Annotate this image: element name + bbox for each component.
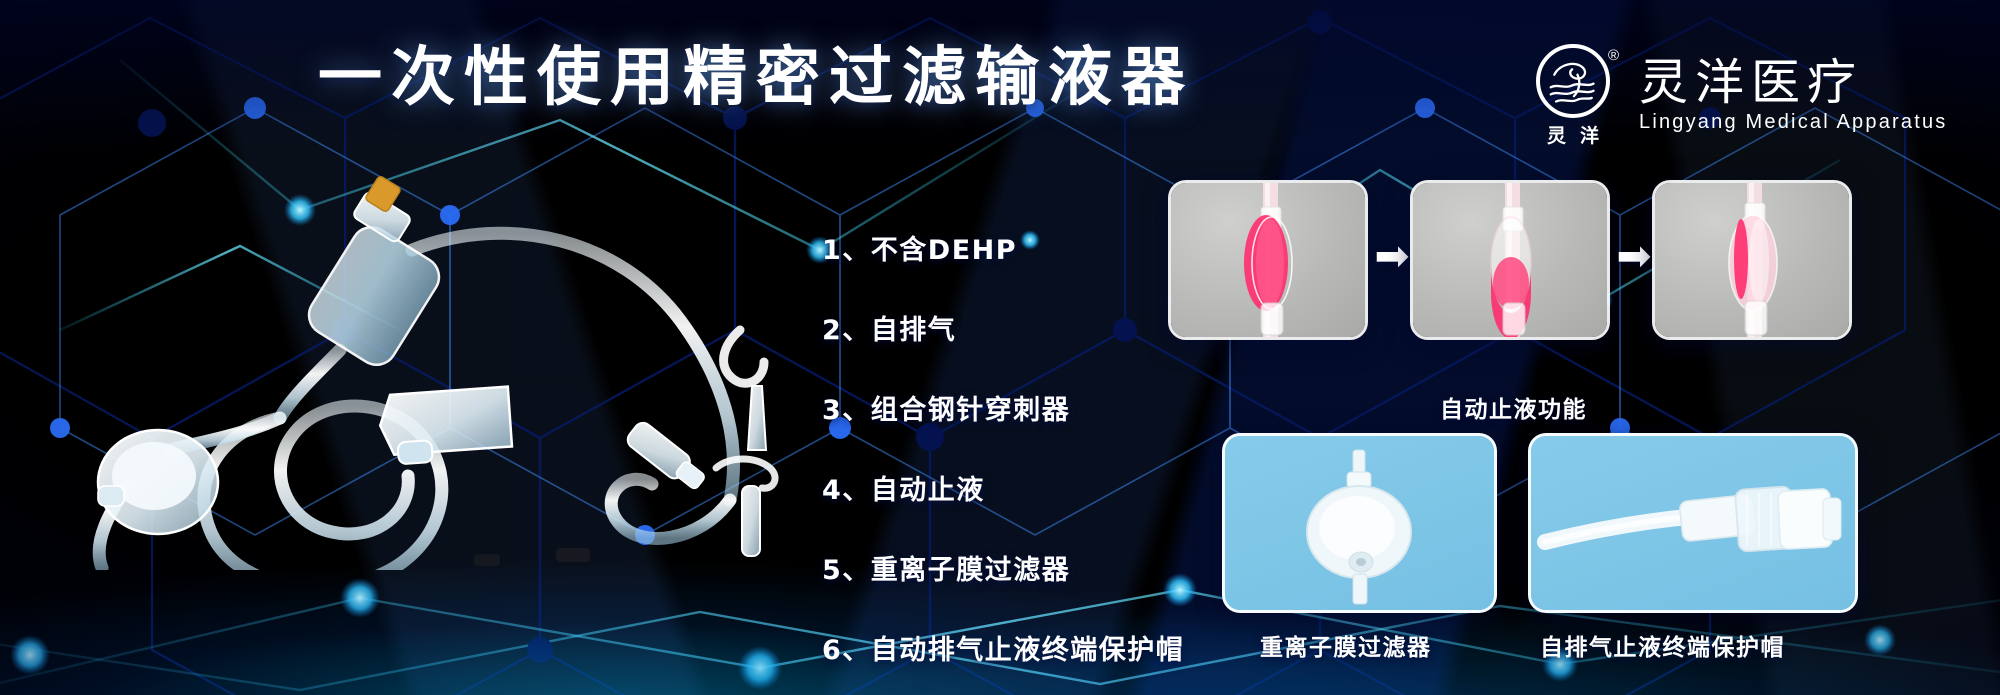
filter-component-caption: 重离子膜过滤器: [1260, 628, 1432, 662]
banner-title: 一次性使用精密过滤输液器: [318, 46, 1194, 110]
auto-stop-step-photo-3: [1652, 180, 1852, 340]
sequence-arrow-icon: ➡: [1614, 233, 1654, 279]
company-logo: ® 灵洋 灵洋医疗 Lingyang Medical Apparatus: [1525, 44, 1947, 148]
feature-item: 5、重离子膜过滤器: [822, 548, 1184, 587]
logo-mark: ® 灵洋: [1525, 44, 1621, 148]
sequence-arrow-icon: ➡: [1372, 233, 1412, 279]
auto-stop-caption: 自动止液功能: [1440, 390, 1587, 424]
protective-cap-component-caption: 自排气止液终端保护帽: [1540, 628, 1785, 662]
feature-item: 3、组合钢针穿刺器: [822, 388, 1184, 427]
logo-wordmark: 灵洋医疗 Lingyang Medical Apparatus: [1639, 58, 1947, 135]
feature-item: 4、自动止液: [822, 468, 1184, 507]
feature-list: 1、不含DEHP 2、自排气 3、组合钢针穿刺器 4、自动止液 5、重离子膜过滤…: [822, 228, 1184, 667]
company-name-cn: 灵洋医疗: [1639, 58, 1947, 109]
auto-stop-step-photo-1: [1168, 180, 1368, 340]
feature-item: 6、自动排气止液终端保护帽: [822, 628, 1184, 667]
hero-product-image: [40, 150, 800, 570]
filter-component-photo: [1222, 433, 1497, 613]
company-name-en: Lingyang Medical Apparatus: [1639, 111, 1947, 134]
product-banner: 一次性使用精密过滤输液器 ® 灵洋 灵洋医疗 Lingyang Med: [0, 0, 2000, 695]
protective-cap-component-photo: [1528, 433, 1858, 613]
feature-item: 1、不含DEHP: [822, 228, 1184, 267]
lingyang-emblem-icon: [1536, 44, 1610, 118]
feature-item: 2、自排气: [822, 308, 1184, 347]
registered-trademark-icon: ®: [1608, 48, 1619, 63]
auto-stop-step-photo-2: [1410, 180, 1610, 340]
logo-mark-caption: 灵洋: [1525, 121, 1621, 148]
